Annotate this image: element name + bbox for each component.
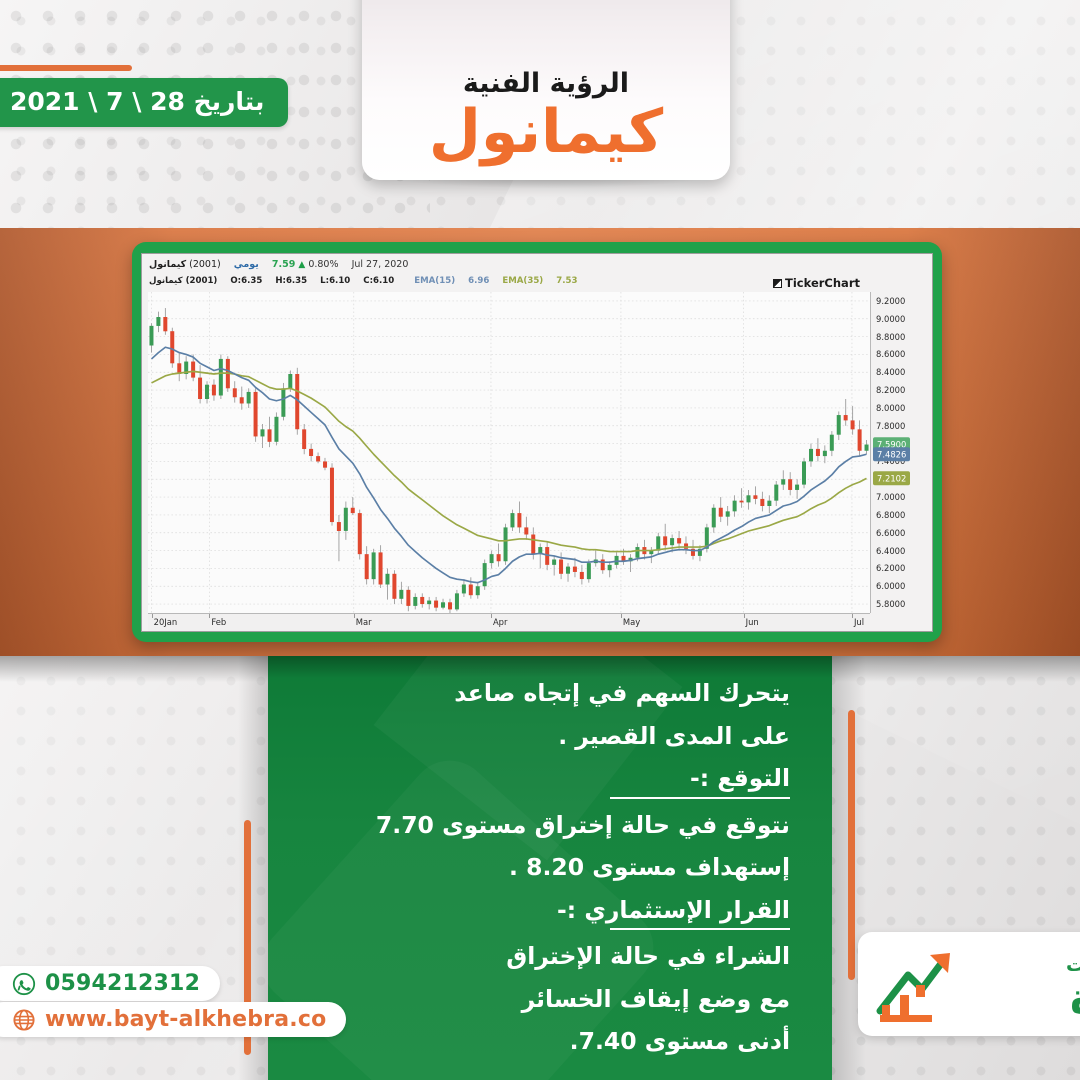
chart-open: O:6.35 — [230, 276, 262, 286]
checkbox-icon — [773, 279, 782, 288]
page-title: كيمانول — [429, 101, 663, 164]
price-axis: 9.20009.00008.80008.60008.40008.20008.00… — [870, 292, 928, 613]
price-tick: 5.8000 — [876, 599, 905, 609]
header-accent-rule — [0, 65, 132, 71]
analysis-line-1: يتحرك السهم في إتجاه صاعد — [292, 682, 790, 706]
price-tick: 8.0000 — [876, 403, 905, 413]
chart-header-line-2: كيمانول (2001) O:6.35 H:6.35 L:6.10 C:6.… — [149, 276, 577, 286]
globe-icon — [12, 1008, 36, 1032]
logo-word-main: الخبرة — [1070, 974, 1080, 1024]
bayt-alkhebra-logo: بيت الخبرة — [870, 941, 1080, 1027]
chart-close: C:6.10 — [363, 276, 394, 286]
chart-timeframe: يومي — [234, 259, 259, 270]
price-tick: 7.0000 — [876, 492, 905, 502]
time-tick: Jul — [854, 617, 864, 627]
ema15-legend-label: EMA(15) — [414, 276, 455, 286]
price-tick: 8.4000 — [876, 367, 905, 377]
chart-high: H:6.35 — [275, 276, 307, 286]
time-gridmark — [491, 614, 492, 618]
chart-symbol-code: (2001) — [189, 259, 221, 270]
date-badge: بتاريخ 28 \ 7 \ 2021 — [0, 78, 288, 127]
chart-symbol-name: كيمانول — [149, 259, 186, 270]
price-tick: 6.2000 — [876, 563, 905, 573]
chart-low: L:6.10 — [320, 276, 350, 286]
time-tick: Jun — [746, 617, 759, 627]
phone-pill[interactable]: 0594212312 — [0, 966, 220, 1001]
accent-line-right — [848, 710, 855, 980]
price-tick: 8.8000 — [876, 332, 905, 342]
chart-date: Jul 27, 2020 — [352, 259, 409, 270]
ema35-badge: 7.2102 — [873, 472, 910, 486]
candlestick-svg — [148, 292, 870, 613]
up-arrow-icon: ▲ — [298, 260, 305, 270]
tickerchart-label: TickerChart — [785, 276, 860, 290]
time-tick: Feb — [211, 617, 226, 627]
page-subtitle: الرؤية الفنية — [463, 68, 629, 99]
title-card: الرؤية الفنية كيمانول — [362, 0, 730, 180]
price-tick: 6.0000 — [876, 581, 905, 591]
price-tick: 8.2000 — [876, 385, 905, 395]
brand-logo-card: بيت الخبرة — [858, 932, 1080, 1036]
logo-word-top: بيت — [1066, 954, 1080, 976]
website-url: www.bayt-alkhebra.co — [45, 1007, 326, 1032]
ema35-legend-label: EMA(35) — [502, 276, 543, 286]
price-tick: 9.2000 — [876, 296, 905, 306]
chart-last-price: 7.59 — [272, 259, 295, 270]
price-tick: 9.0000 — [876, 314, 905, 324]
decision-line-2: مع وضع إيقاف الخسائر — [292, 988, 790, 1012]
rising-arrow-icon — [880, 953, 950, 1022]
price-tick: 6.6000 — [876, 528, 905, 538]
decision-line-1: الشراء في حالة الإختراق — [292, 945, 790, 969]
decision-line-3: أدنى مستوى 7.40. — [292, 1030, 790, 1054]
forecast-line-2: إستهداف مستوى 8.20 . — [292, 856, 790, 880]
price-tick: 7.8000 — [876, 421, 905, 431]
time-gridmark — [152, 614, 153, 618]
analysis-text: يتحرك السهم في إتجاه صاعد على المدى القص… — [268, 656, 832, 1054]
chart-ohlc-code: (2001) — [186, 276, 218, 286]
price-tick: 6.4000 — [876, 546, 905, 556]
time-tick: Mar — [356, 617, 372, 627]
chart-ohlc-symbol: كيمانول — [149, 276, 183, 286]
tickerchart-brand: TickerChart — [773, 276, 860, 290]
analysis-panel: يتحرك السهم في إتجاه صاعد على المدى القص… — [268, 656, 832, 1080]
time-gridmark — [209, 614, 210, 618]
time-tick: May — [623, 617, 640, 627]
forecast-heading: التوقع :- — [690, 767, 790, 791]
phone-number: 0594212312 — [45, 971, 200, 996]
ema15-badge: 7.4826 — [873, 447, 910, 461]
time-gridmark — [354, 614, 355, 618]
time-tick: Apr — [493, 617, 508, 627]
chart-change-percent: 0.80% — [308, 259, 338, 270]
ema15-legend-value: 6.96 — [468, 276, 489, 286]
forecast-heading-underline — [610, 797, 790, 799]
website-pill[interactable]: www.bayt-alkhebra.co — [0, 1002, 346, 1037]
ema35-legend-value: 7.53 — [556, 276, 577, 286]
price-tick: 8.6000 — [876, 349, 905, 359]
time-axis: 20JanFebMarAprMayJunJul — [148, 613, 870, 631]
time-tick: 20Jan — [154, 617, 178, 627]
decision-heading: القرار الإستثماري :- — [557, 899, 790, 923]
whatsapp-icon — [12, 972, 36, 996]
decision-heading-underline — [610, 928, 790, 930]
time-gridmark — [852, 614, 853, 618]
price-tick: 6.8000 — [876, 510, 905, 520]
forecast-line-1: نتوقع في حالة إختراق مستوى 7.70 — [292, 814, 790, 838]
chart-frame: كيمانول (2001) يومي 7.59 ▲ 0.80% Jul 27,… — [132, 242, 942, 642]
chart-canvas[interactable]: كيمانول (2001) يومي 7.59 ▲ 0.80% Jul 27,… — [141, 253, 933, 632]
chart-header-line-1: كيمانول (2001) يومي 7.59 ▲ 0.80% Jul 27,… — [149, 259, 408, 270]
candlestick-plot — [148, 292, 870, 613]
time-gridmark — [621, 614, 622, 618]
time-gridmark — [744, 614, 745, 618]
analysis-line-2: على المدى القصير . — [292, 725, 790, 749]
